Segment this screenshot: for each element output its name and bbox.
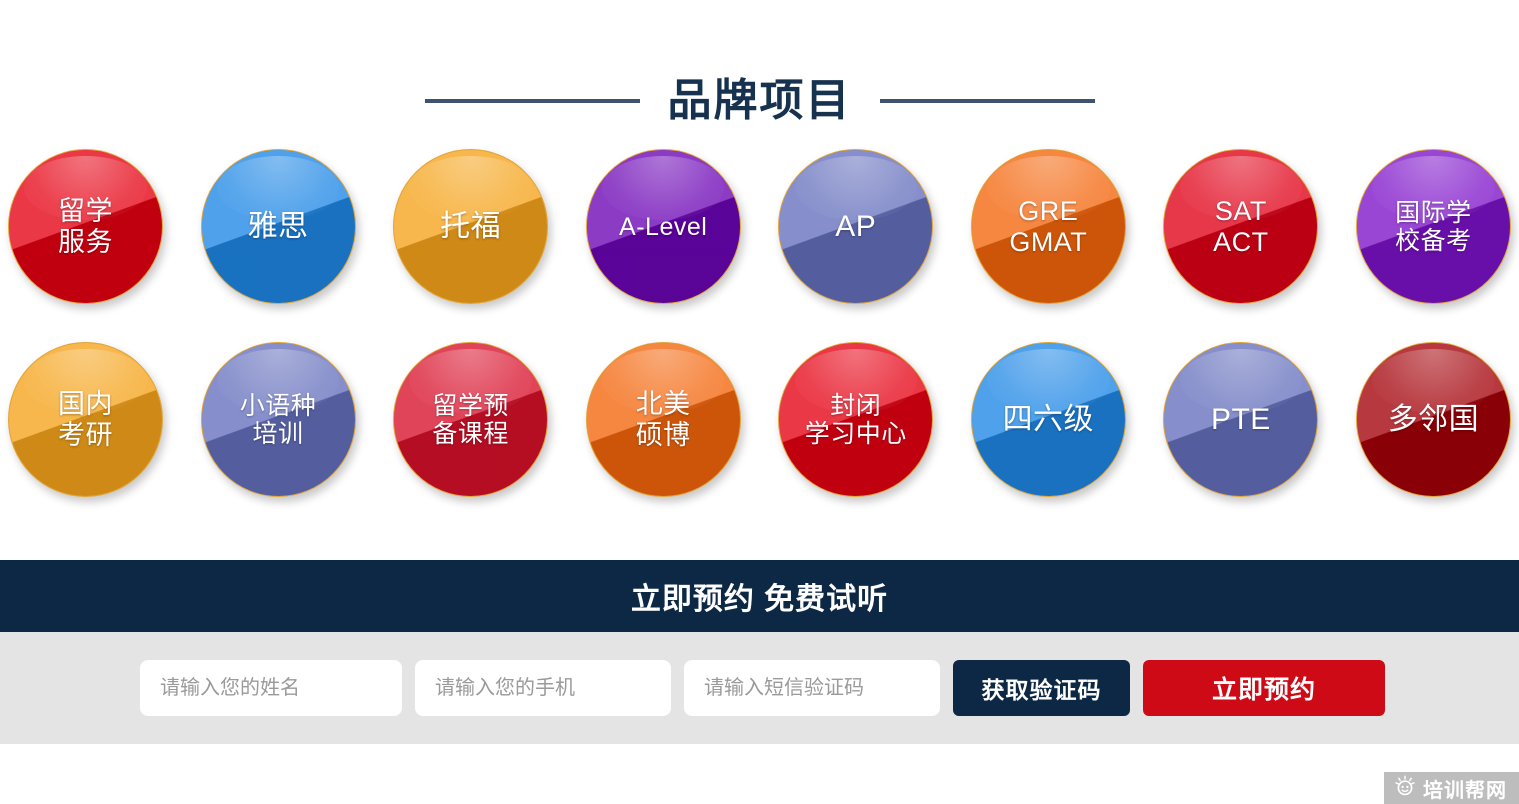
program-bubble-minor-languages[interactable]: 小语种 培训 xyxy=(201,342,356,497)
watermark-text: 培训帮网 xyxy=(1423,774,1507,803)
program-label: 封闭 学习中心 xyxy=(799,392,913,448)
program-label: 雅思 xyxy=(242,210,315,244)
program-label: 托福 xyxy=(434,210,507,244)
section-heading: 品牌项目 xyxy=(0,0,1519,130)
page-title: 品牌项目 xyxy=(668,79,852,123)
name-input[interactable] xyxy=(140,660,402,716)
program-row-1: 留学 服务 雅思 托福 A-Level AP GRE GMAT SAT ACT … xyxy=(8,130,1511,323)
program-label: A-Level xyxy=(613,213,713,241)
program-label: AP xyxy=(829,210,882,244)
program-label: PTE xyxy=(1205,403,1277,437)
sun-face-icon xyxy=(1394,775,1416,802)
program-bubble-pte[interactable]: PTE xyxy=(1163,342,1318,497)
program-bubble-ielts[interactable]: 雅思 xyxy=(201,149,356,304)
cta-banner-text: 立即预约 免费试听 xyxy=(631,574,888,618)
program-grid: 留学 服务 雅思 托福 A-Level AP GRE GMAT SAT ACT … xyxy=(0,130,1519,516)
program-bubble-international-school[interactable]: 国际学 校备考 xyxy=(1356,149,1511,304)
program-bubble-north-america-grad[interactable]: 北美 硕博 xyxy=(586,342,741,497)
booking-form: 获取验证码 立即预约 xyxy=(0,632,1519,744)
program-label: SAT ACT xyxy=(1207,196,1275,256)
program-label: 北美 硕博 xyxy=(630,389,697,449)
program-bubble-a-level[interactable]: A-Level xyxy=(586,149,741,304)
cta-banner: 立即预约 免费试听 xyxy=(0,560,1519,632)
program-label: 国际学 校备考 xyxy=(1389,199,1478,255)
program-bubble-cet46[interactable]: 四六级 xyxy=(971,342,1126,497)
heading-rule-left xyxy=(425,99,640,103)
program-bubble-toefl[interactable]: 托福 xyxy=(393,149,548,304)
program-label: 国内 考研 xyxy=(52,389,119,449)
phone-input[interactable] xyxy=(415,660,671,716)
program-bubble-gre-gmat[interactable]: GRE GMAT xyxy=(971,149,1126,304)
sms-code-input[interactable] xyxy=(684,660,940,716)
program-label: 留学 服务 xyxy=(52,196,119,256)
program-label: 多邻国 xyxy=(1382,403,1486,437)
program-label: GRE GMAT xyxy=(1003,196,1093,256)
program-bubble-liuxuefuwu[interactable]: 留学 服务 xyxy=(8,149,163,304)
get-sms-code-button[interactable]: 获取验证码 xyxy=(953,660,1130,716)
program-bubble-sat-act[interactable]: SAT ACT xyxy=(1163,149,1318,304)
heading-rule-right xyxy=(880,99,1095,103)
program-bubble-domestic-kaoyan[interactable]: 国内 考研 xyxy=(8,342,163,497)
program-row-2: 国内 考研 小语种 培训 留学预 备课程 北美 硕博 封闭 学习中心 四六级 P… xyxy=(8,323,1511,516)
program-bubble-closed-study-center[interactable]: 封闭 学习中心 xyxy=(778,342,933,497)
program-bubble-duolingo[interactable]: 多邻国 xyxy=(1356,342,1511,497)
program-bubble-ap[interactable]: AP xyxy=(778,149,933,304)
program-label: 小语种 培训 xyxy=(234,392,323,448)
watermark: 培训帮网 xyxy=(1384,772,1519,804)
program-bubble-prep-course[interactable]: 留学预 备课程 xyxy=(393,342,548,497)
program-label: 四六级 xyxy=(997,403,1101,437)
submit-booking-button[interactable]: 立即预约 xyxy=(1143,660,1385,716)
program-label: 留学预 备课程 xyxy=(426,392,515,448)
